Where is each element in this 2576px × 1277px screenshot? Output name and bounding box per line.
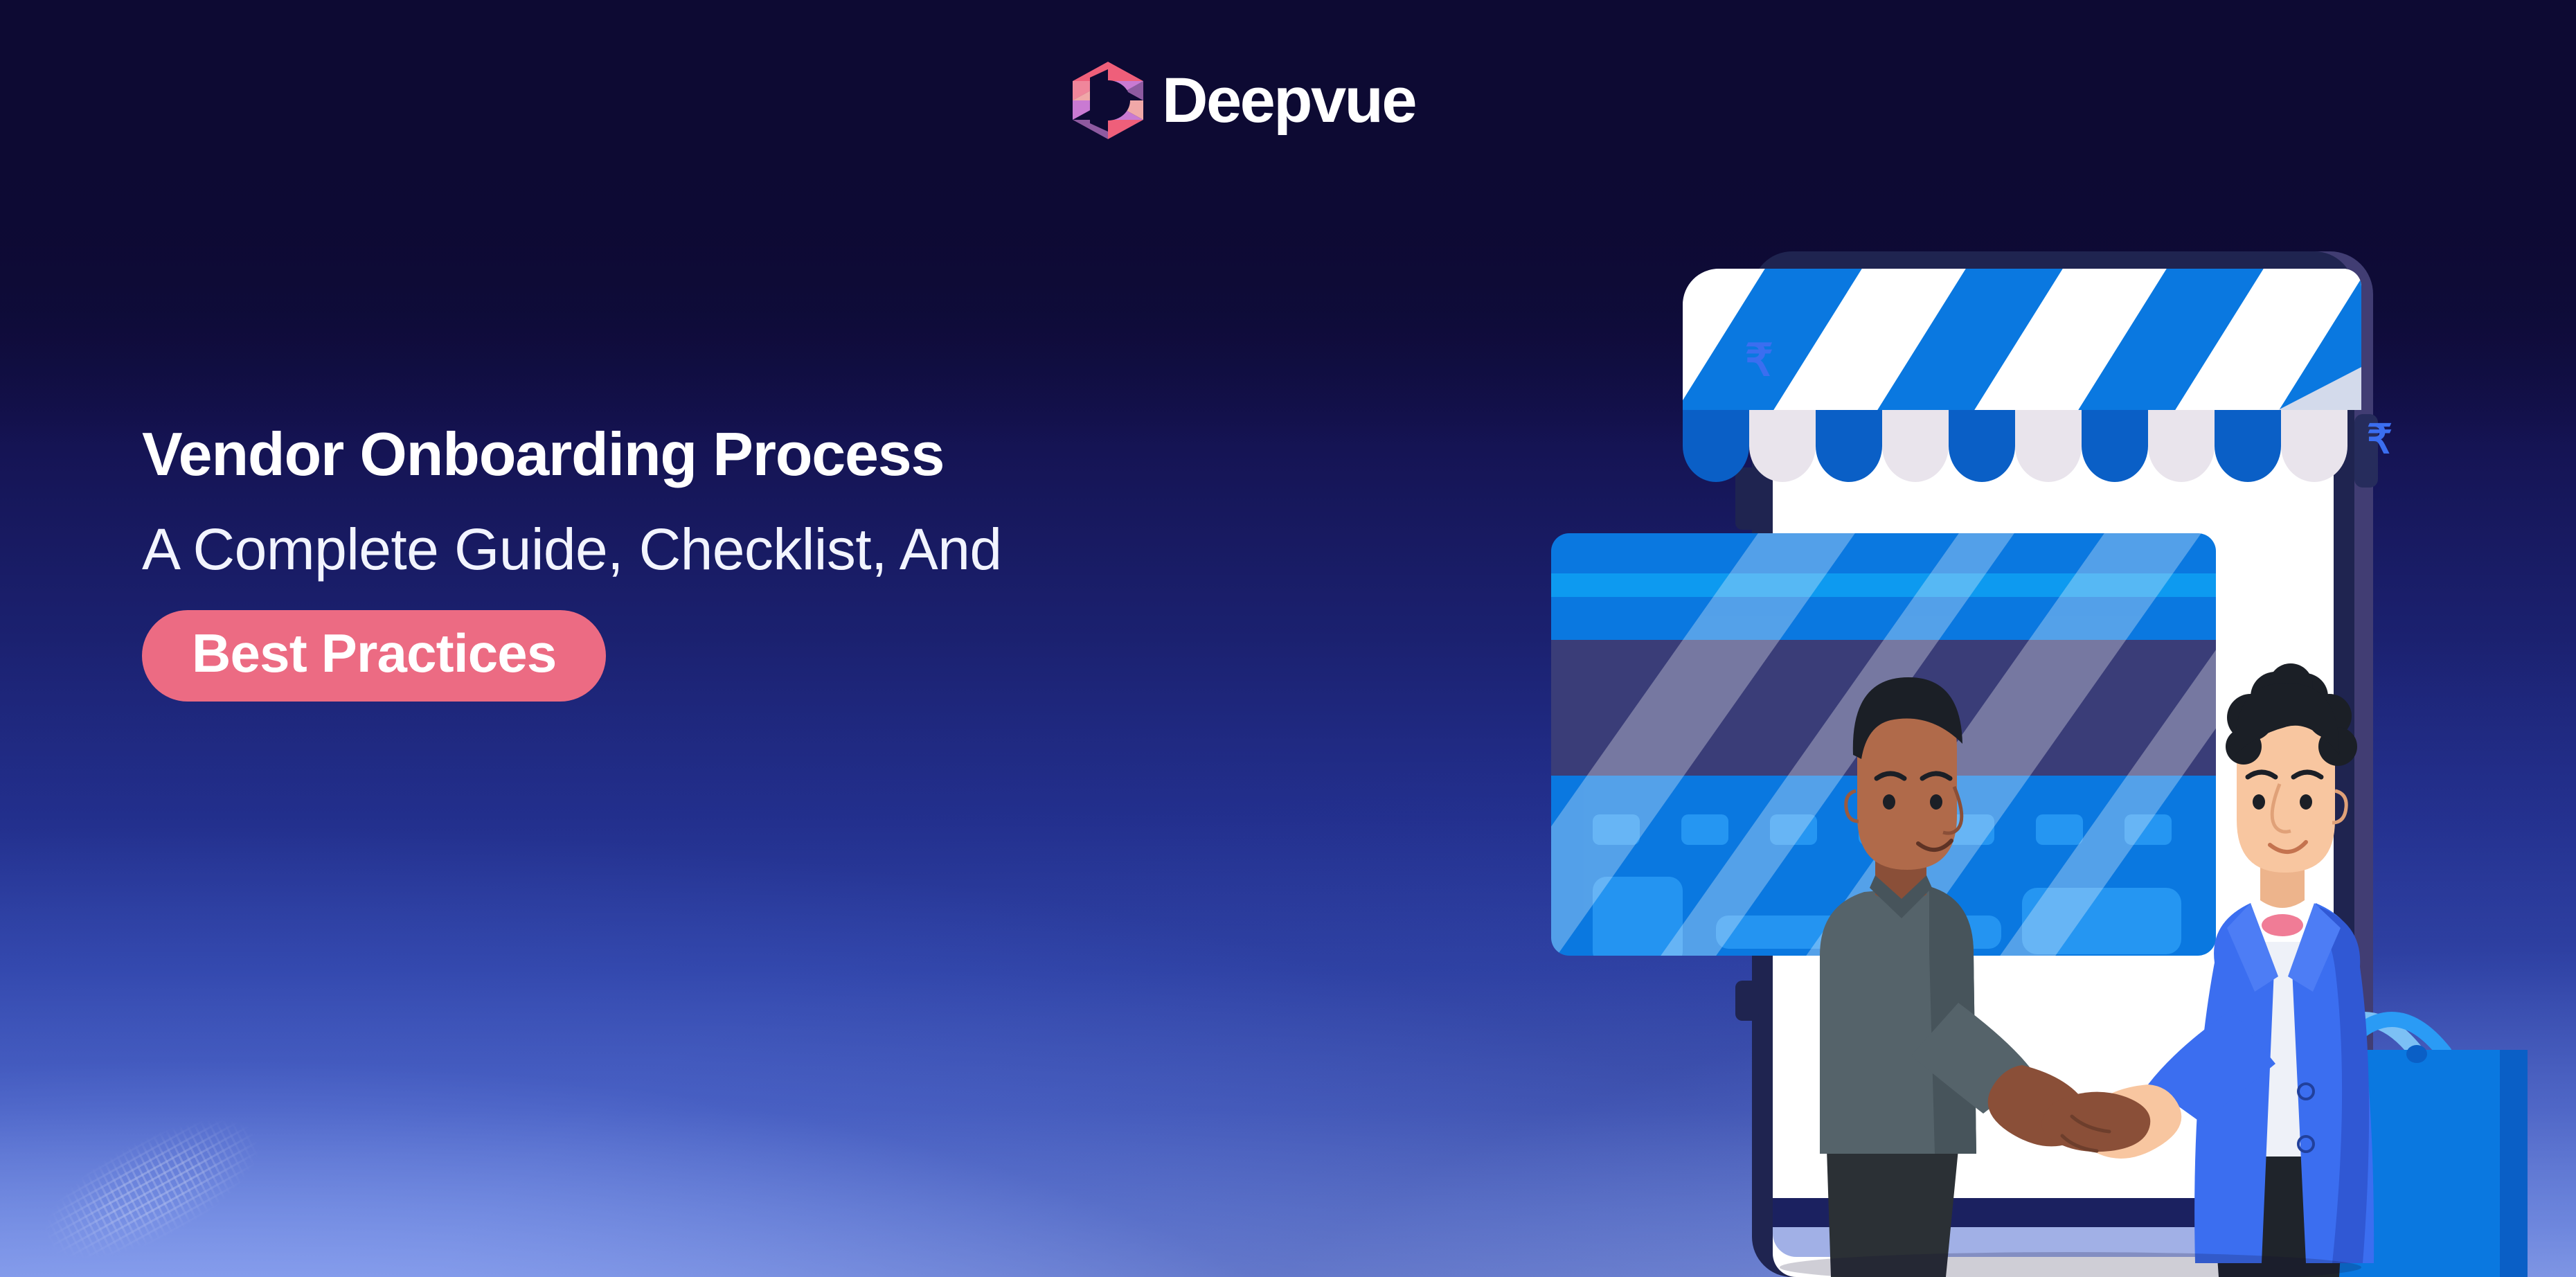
- brand-name: Deepvue: [1162, 69, 1415, 132]
- rupee-symbol-icon: ₹: [2367, 417, 2392, 462]
- badge-label: Best Practices: [192, 625, 556, 682]
- handshake: [2041, 1092, 2150, 1152]
- brand-lockup: Deepvue: [1072, 61, 1415, 140]
- banner-canvas: Deepvue Vendor Onboarding Process A Comp…: [0, 0, 2576, 1277]
- striped-awning: [1669, 256, 2465, 482]
- deepvue-hexagon-logo-icon: [1072, 61, 1144, 140]
- rupee-symbol-icon: ₹: [1745, 335, 1773, 385]
- page-subtitle: A Complete Guide, Checklist, And: [142, 517, 1402, 581]
- vendor-onboarding-illustration: ₹ ₹: [1544, 229, 2576, 1277]
- best-practices-badge: Best Practices: [142, 610, 606, 702]
- page-title: Vendor Onboarding Process: [142, 421, 1402, 487]
- hero-copy: Vendor Onboarding Process A Complete Gui…: [142, 421, 1402, 702]
